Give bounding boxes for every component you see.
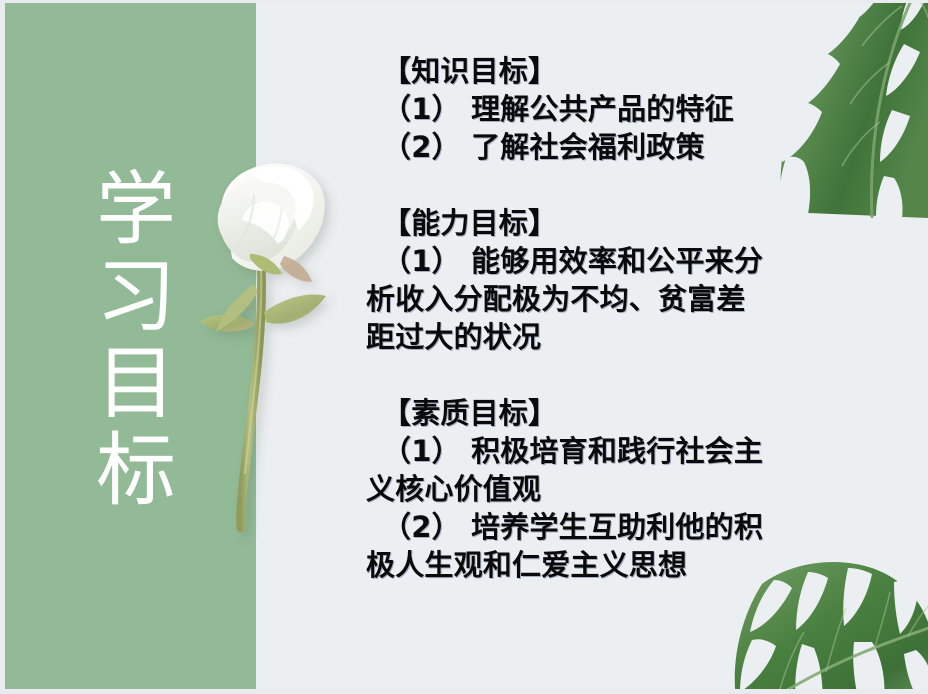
objective-item-continuation: 义核心价值观 xyxy=(366,470,786,508)
objectives-section-knowledge: 【知识目标】 （1） 理解公共产品的特征 （2） 了解社会福利政策 xyxy=(366,52,786,166)
objective-item-continuation: 极人生观和仁爱主义思想 xyxy=(366,546,786,584)
objectives-section-ability: 【能力目标】 （1） 能够用效率和公平来分 析收入分配极为不均、贫富差 距过大的… xyxy=(366,204,786,356)
objective-item-continuation: 析收入分配极为不均、贫富差 xyxy=(366,280,786,318)
section-heading: 【能力目标】 xyxy=(382,204,786,242)
objective-item-continuation: 距过大的状况 xyxy=(366,318,786,356)
section-heading: 【素质目标】 xyxy=(382,394,786,432)
objectives-content: 【知识目标】 （1） 理解公共产品的特征 （2） 了解社会福利政策 【能力目标】… xyxy=(366,52,786,584)
presentation-slide: 学习目标 xyxy=(0,0,928,694)
objective-item: （2） 培养学生互助利他的积 xyxy=(382,508,786,546)
section-heading: 【知识目标】 xyxy=(382,52,786,90)
objective-item: （1） 能够用效率和公平来分 xyxy=(382,242,786,280)
objectives-section-quality: 【素质目标】 （1） 积极培育和践行社会主 义核心价值观 （2） 培养学生互助利… xyxy=(366,394,786,584)
page-title: 学习目标 xyxy=(86,166,186,514)
objective-item: （2） 了解社会福利政策 xyxy=(382,128,786,166)
objective-item: （1） 积极培育和践行社会主 xyxy=(382,432,786,470)
objective-item: （1） 理解公共产品的特征 xyxy=(382,90,786,128)
